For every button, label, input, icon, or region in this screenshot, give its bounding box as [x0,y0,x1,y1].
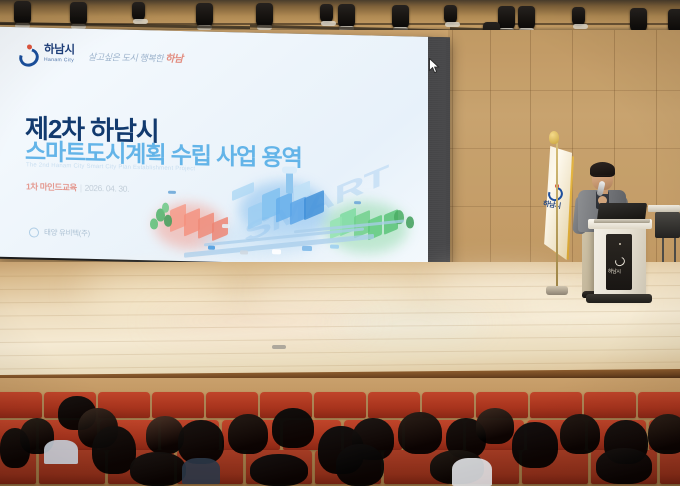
city-vehicle [330,245,339,249]
city-vehicle [208,246,215,250]
ceiling-spotlight [444,5,457,24]
side-chair [655,212,680,238]
slide-logo: 하남시 Hanam City [18,44,75,63]
slide-session-meta: 1차 마인드교육|2026. 04. 30. [26,180,129,194]
audience-head [560,414,600,454]
podium-crest-text: 하남시 [608,268,621,275]
audience-head [596,448,652,484]
city-tree [406,216,414,228]
audience-head [648,414,680,454]
hanam-city-swirl-logo-icon [18,44,35,61]
audience-head [336,444,384,486]
flag-crest-icon [548,186,561,199]
floor-plank-line [0,272,680,277]
podium-indicator-led [619,243,621,245]
auditorium-screenshot: 하남시 Hanam City 살고싶은 도시 행복한 하남 제2차 하남시 스마… [0,0,680,486]
tagline-plain: 살고싶은 도시 행복한 [88,52,165,64]
city-tree [150,218,158,229]
flag-stand [546,286,568,295]
floor-plank-line [0,362,680,370]
session-separator: | [80,183,82,193]
auditorium-seat [152,392,204,418]
city-vehicle [302,246,312,251]
ceiling-spotlight [498,6,515,30]
city-vehicle [354,201,361,204]
audience-head [398,412,442,454]
side-chair-leg [674,238,676,262]
ceiling-spotlight [320,4,333,23]
laptop-base[interactable] [594,219,650,223]
mouse-cursor [429,58,440,74]
ceiling-spotlight [196,3,213,27]
floor-reflection [80,276,230,310]
podium-crest-icon [615,256,624,265]
flag-pole [556,137,558,289]
ceiling-spotlight [630,8,647,32]
floor-plank-line [0,349,680,356]
auditorium-seat [314,392,366,418]
floor-object [272,345,286,349]
audience-head [250,454,308,486]
logo-english-text: Hanam City [44,57,75,63]
session-label: 1차 마인드교육 [26,181,77,192]
side-table [648,205,680,212]
city-vehicle [168,191,176,194]
audience-head [228,414,268,454]
audience-head [130,452,186,486]
speaker-glasses-icon [594,175,611,180]
audience-area [0,378,680,486]
city-vehicle [272,249,281,254]
auditorium-seat [660,450,680,484]
side-chair-leg [662,238,664,262]
audience-head [512,422,558,468]
presentation-slide[interactable]: 하남시 Hanam City 살고싶은 도시 행복한 하남 제2차 하남시 스마… [0,27,428,267]
flag-finial-icon [549,131,559,144]
smart-city-illustration: SMART [144,162,424,267]
city-tree [164,215,172,227]
ceiling-spotlight [572,7,585,26]
city-tree [162,203,169,213]
ceiling-spotlight [338,4,355,28]
slide-vendor: 태양 유비텍(주) [29,226,90,238]
ceiling-spotlight [70,2,87,26]
auditorium-seat [0,392,42,418]
projection-screen[interactable]: 하남시 Hanam City 살고싶은 도시 행복한 하남 제2차 하남시 스마… [0,27,450,270]
audience-shoulder [182,458,220,484]
podium-base [586,294,652,303]
ceiling-spotlight [392,5,409,29]
session-date: 2026. 04. 30. [85,183,129,194]
audience-head [272,408,314,448]
vendor-mark-icon [29,227,39,237]
tagline-accent: 하남 [165,54,183,65]
slide-tagline: 살고싶은 도시 행복한 하남 [88,48,183,65]
ceiling-spotlight [518,6,535,30]
audience-shoulder [452,458,492,486]
auditorium-seat [584,392,636,418]
control-tower-cab [282,166,297,173]
logo-korean-text: 하남시 [44,45,75,57]
audience-shoulder [44,440,78,464]
city-vehicle [222,224,230,228]
city-vehicle [240,250,248,254]
audience-head [476,408,514,444]
floor-plank-line [0,336,680,343]
vendor-name: 태양 유비텍(주) [44,227,90,239]
ceiling-spotlight [256,3,273,27]
audience-head [0,428,30,468]
ceiling-spotlight [132,2,145,21]
